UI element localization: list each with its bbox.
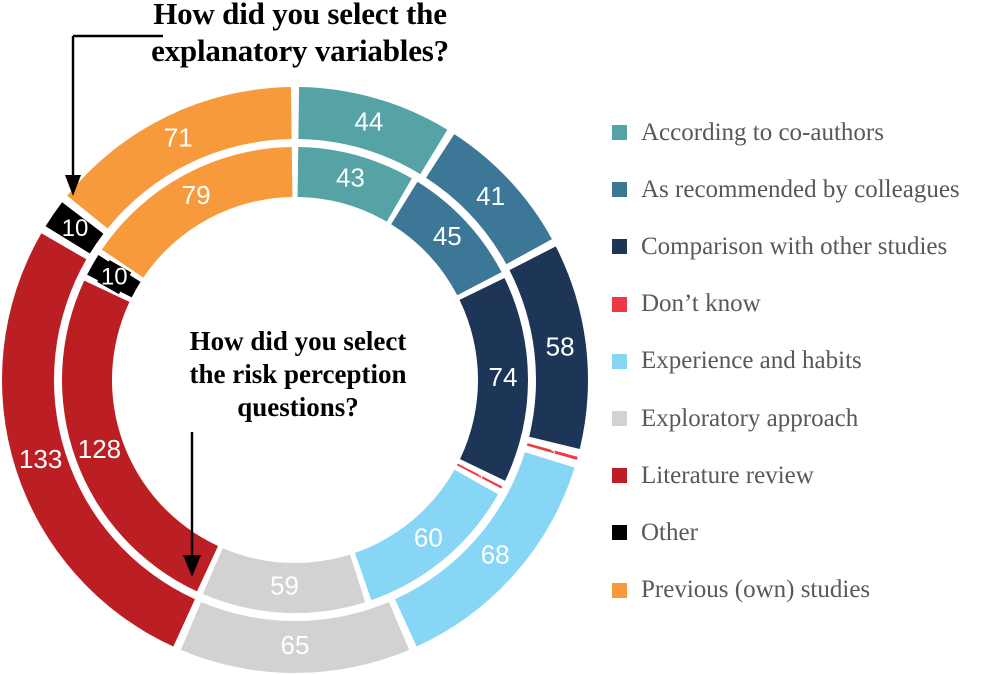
outer-title-line-2: explanatory variables? — [120, 33, 480, 70]
legend-item-label: Literature review — [641, 462, 814, 490]
legend-item[interactable]: Other — [612, 504, 1006, 561]
segment-value-label: 74 — [489, 362, 518, 392]
chart-root: 444158368651331071434574360591281079 How… — [0, 0, 1006, 674]
legend-swatch-icon — [612, 468, 627, 483]
legend-item[interactable]: Exploratory approach — [612, 390, 1006, 447]
legend-item[interactable]: As recommended by colleagues — [612, 161, 1006, 218]
legend-swatch-icon — [612, 583, 627, 598]
legend-swatch-icon — [612, 182, 627, 197]
segment-value-label: 68 — [481, 540, 510, 570]
legend-swatch-icon — [612, 125, 627, 140]
legend-item[interactable]: Experience and habits — [612, 333, 1006, 390]
legend-swatch-icon — [612, 411, 627, 426]
legend-item[interactable]: Literature review — [612, 447, 1006, 504]
legend-item-label: Comparison with other studies — [641, 233, 947, 261]
segment-value-label: 58 — [546, 331, 575, 361]
inner-ring-question-title: How did you select the risk perception q… — [148, 325, 448, 424]
legend-item-label: Previous (own) studies — [641, 576, 870, 604]
legend-item-label: As recommended by colleagues — [641, 176, 960, 204]
legend-item-label: Other — [641, 519, 698, 547]
segment-value-label: 3 — [476, 470, 482, 482]
segment-value-label: 60 — [414, 522, 443, 552]
segment-value-label: 79 — [182, 180, 211, 210]
legend-swatch-icon — [612, 354, 627, 369]
segment-value-label: 3 — [549, 445, 555, 457]
legend-item[interactable]: Don’t know — [612, 276, 1006, 333]
legend-swatch-icon — [612, 525, 627, 540]
segment-value-label: 41 — [476, 181, 505, 211]
legend-item-label: According to co-authors — [641, 119, 884, 147]
inner-title-line-1: How did you select — [148, 325, 448, 358]
outer-title-line-1: How did you select the — [120, 0, 480, 33]
legend-swatch-icon — [612, 297, 627, 312]
segment-value-label: 133 — [19, 444, 62, 474]
segment-value-label: 65 — [281, 630, 310, 660]
segment-value-label: 44 — [354, 106, 383, 136]
legend-swatch-icon — [612, 239, 627, 254]
legend-item[interactable]: Comparison with other studies — [612, 218, 1006, 275]
legend-item[interactable]: Previous (own) studies — [612, 562, 1006, 619]
segment-value-label: 59 — [270, 571, 299, 601]
segment-value-label: 45 — [433, 221, 462, 251]
segment-value-label: 10 — [101, 263, 128, 290]
chart-legend: According to co-authorsAs recommended by… — [612, 104, 1006, 619]
legend-item-label: Don’t know — [641, 290, 761, 318]
segment-value-label: 128 — [78, 434, 121, 464]
segment-value-label: 10 — [62, 215, 89, 242]
outer-ring-question-title: How did you select the explanatory varia… — [120, 0, 480, 69]
segment-value-label: 43 — [336, 162, 365, 192]
inner-title-line-3: questions? — [148, 391, 448, 424]
legend-item[interactable]: According to co-authors — [612, 104, 1006, 161]
legend-item-label: Exploratory approach — [641, 405, 858, 433]
inner-title-line-2: the risk perception — [148, 358, 448, 391]
legend-item-label: Experience and habits — [641, 347, 862, 375]
segment-value-label: 71 — [164, 123, 193, 153]
